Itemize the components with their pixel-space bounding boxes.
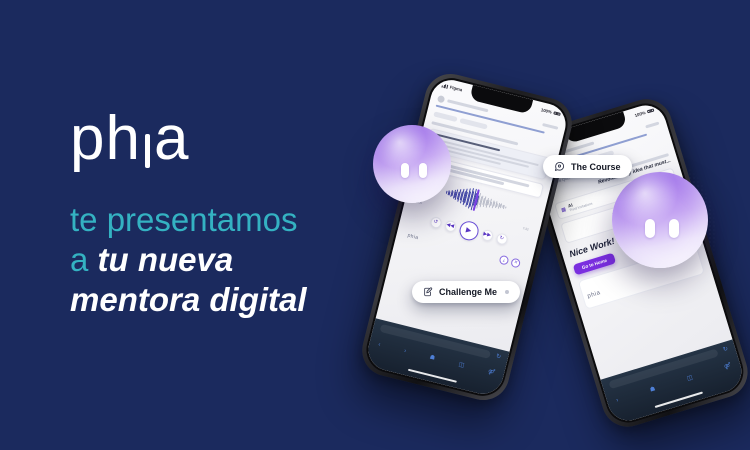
phia-sphere-avatar-left [373, 125, 451, 203]
sphere-eye-right [419, 163, 427, 178]
phia-sphere-avatar-right [612, 172, 708, 268]
home-indicator [655, 392, 703, 408]
forward-icon[interactable]: › [616, 398, 620, 404]
avatar [437, 95, 445, 103]
tagline-line-1: te presentamos [70, 201, 297, 238]
carrier-label: Figma [449, 84, 462, 92]
hero-banner: p h a te presentamos a tu nueva mentora … [0, 0, 750, 450]
sphere-eye-left [645, 219, 655, 238]
badge-label: The Course [571, 162, 621, 172]
tag-chip[interactable] [433, 112, 457, 123]
share-icon[interactable]: ⚤ [724, 363, 733, 371]
signal-icon [442, 83, 449, 88]
bottom-nav-bar-right[interactable]: ↻ › ☗ ◫ ⚤ [601, 339, 747, 425]
note-edit-icon [423, 287, 433, 297]
refresh-icon[interactable]: ↻ [722, 346, 729, 353]
bookmark-icon[interactable]: ☗ [649, 386, 656, 393]
play-icon[interactable]: ▶ [457, 219, 480, 242]
book-icon[interactable]: ◫ [686, 375, 693, 382]
page-title: te presentamos a tu nueva mentora digita… [70, 200, 370, 320]
logo-dotless-i [145, 134, 150, 168]
chart-icon: ▦ [560, 206, 566, 213]
badge-status-dot [505, 290, 509, 294]
battery-label: 100% [540, 107, 552, 115]
tagline-line-2-bold: tu nueva [98, 241, 234, 278]
footer-brand-label: phia [587, 290, 602, 300]
logo-letter-a: a [154, 108, 189, 170]
forward-15-icon[interactable]: ↻ [495, 232, 508, 245]
logo-letter-h: h [105, 108, 140, 170]
speed-icon[interactable]: ✕ [510, 257, 521, 268]
player-brand-label: phia [407, 233, 419, 241]
chat-bubble-icon [554, 161, 565, 172]
total-time: 7:32 [522, 226, 529, 231]
forward-icon[interactable]: › [403, 348, 406, 354]
tagline-line-2-teal: a [70, 241, 88, 278]
skip-back-icon[interactable]: ◀◀ [444, 219, 457, 232]
book-icon[interactable]: ◫ [458, 362, 465, 369]
bottom-nav-bar-left[interactable]: ↻ ‹ › ☗ ◫ ⚤ [364, 318, 510, 398]
back-icon[interactable]: ‹ [378, 342, 381, 348]
rewind-15-icon[interactable]: ↺ [429, 215, 442, 228]
phia-logo: p h a [70, 108, 370, 170]
download-icon[interactable]: ⤓ [499, 254, 510, 265]
refresh-icon[interactable]: ↻ [495, 354, 501, 361]
phone-screen-left: Figma 100% [364, 76, 570, 399]
badge-challenge-me[interactable]: Challenge Me [412, 281, 520, 303]
phone-bezel: Figma 100% [362, 73, 573, 400]
badge-the-course[interactable]: The Course [543, 155, 632, 178]
battery-label: 100% [634, 110, 646, 118]
tagline-line-3-bold: mentora digital [70, 281, 307, 318]
sphere-eye-left [401, 163, 409, 178]
logo-letter-p: p [70, 108, 105, 170]
badge-label: Challenge Me [439, 287, 497, 297]
battery-icon [647, 108, 655, 113]
header-meta [542, 123, 558, 129]
home-indicator [408, 369, 457, 383]
tag-chip[interactable] [459, 118, 487, 130]
hero-text-block: p h a te presentamos a tu nueva mentora … [70, 108, 370, 320]
sphere-eye-right [669, 219, 679, 238]
battery-icon [553, 111, 561, 116]
share-icon[interactable]: ⚤ [487, 369, 495, 377]
nav-input-pill[interactable] [380, 324, 492, 359]
header-meta [645, 122, 659, 128]
phone-mockup-left: Figma 100% [357, 68, 578, 405]
skip-forward-icon[interactable]: ▶▶ [480, 228, 493, 241]
bookmark-icon[interactable]: ☗ [429, 355, 436, 362]
